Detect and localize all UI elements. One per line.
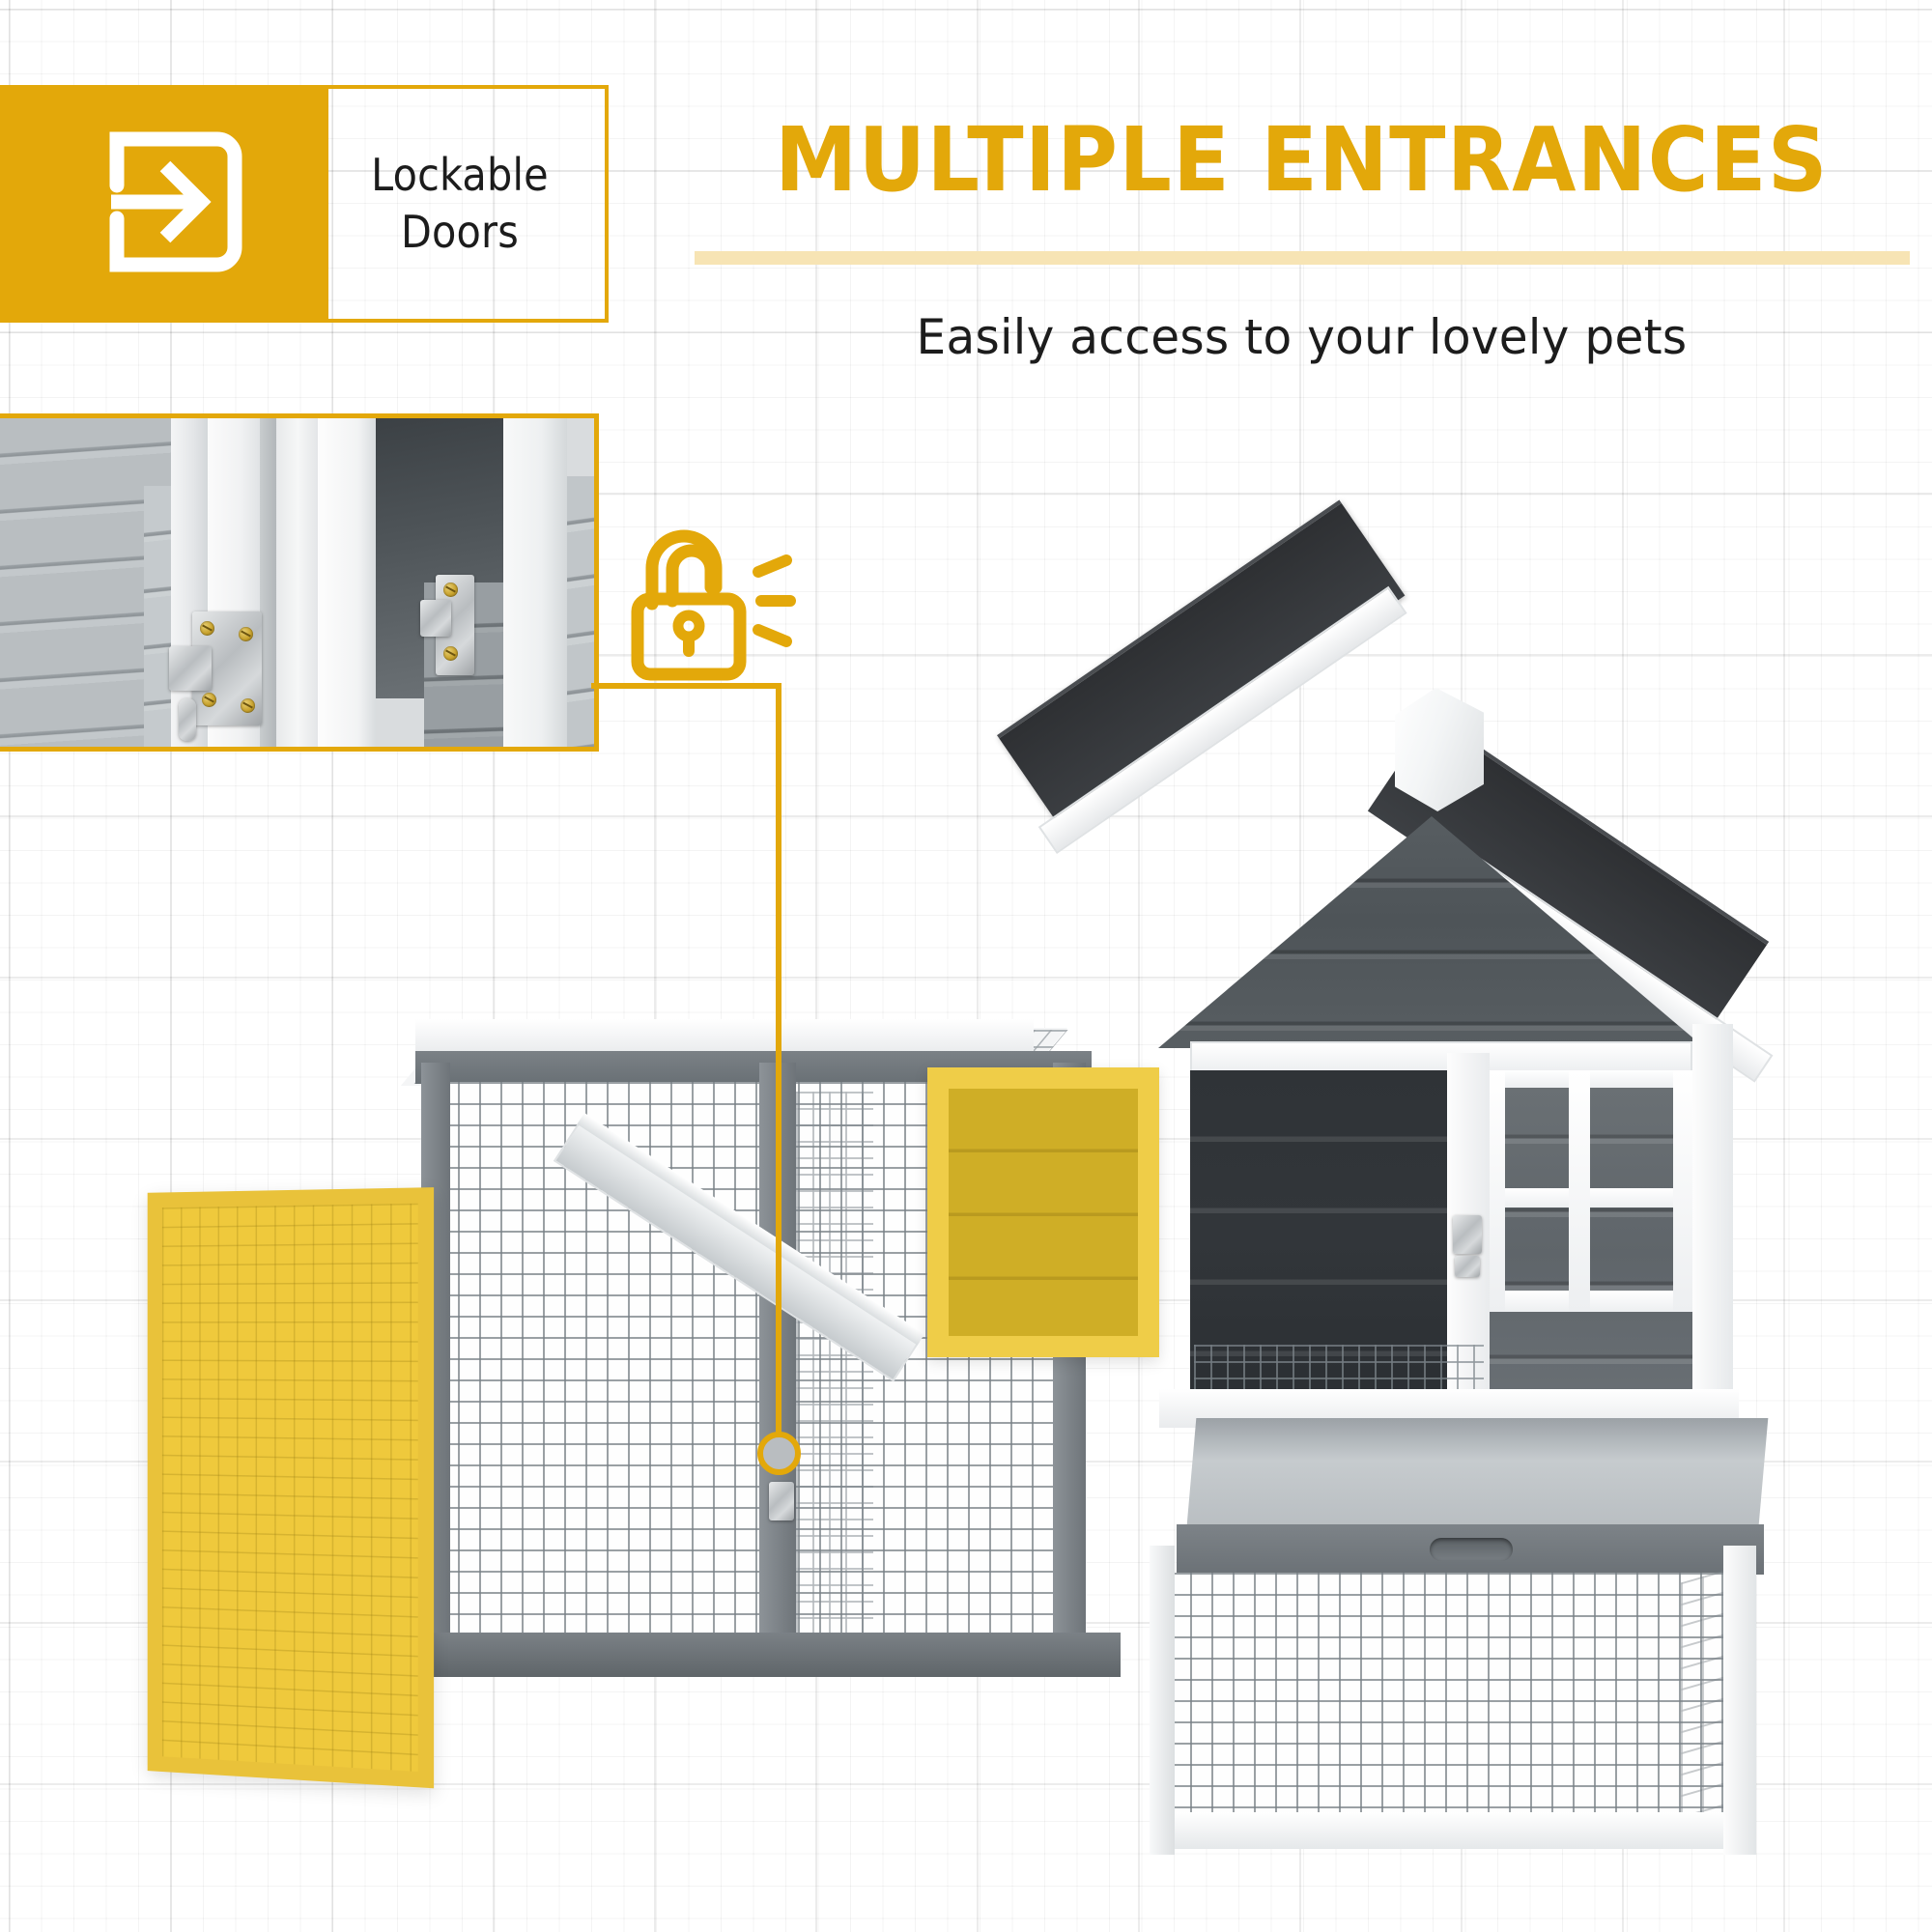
detail-door-stile-d [318,413,376,752]
detail-right-post [503,413,567,752]
detail-screw-5 [443,582,458,597]
door-latch-icon [1453,1215,1482,1254]
callout-leader-line [591,676,813,1478]
badge-label-line-1: Lockable [371,147,549,204]
detail-screw-3 [202,693,216,707]
run-base-rail [406,1633,1121,1677]
door-latch-keeper-icon [1455,1256,1480,1277]
badge-label: Lockable Doors [371,147,549,261]
badge-icon-cell [0,89,328,319]
lower-run-base-rail [1157,1812,1754,1849]
detail-screw-4 [241,698,255,713]
detail-screw-1 [200,621,214,636]
highlight-run-side-door-mesh [162,1204,418,1772]
detail-screw-2 [239,627,253,641]
lower-run-right-post [1723,1546,1756,1855]
detail-screw-6 [443,646,458,661]
page-subtitle: Easily access to your lovely pets [699,309,1903,365]
roof-left-slope [997,500,1405,831]
highlight-house-front-door-panel [949,1089,1138,1336]
hutch-right-post [1692,1024,1733,1449]
feature-badge: Lockable Doors [0,85,609,323]
window-frame-right [1673,1070,1692,1312]
unlock-padlock-icon [616,522,800,691]
door-enter-arrow-icon [72,110,256,298]
callout-endpoint-marker [757,1432,801,1475]
detail-latch-pin-left [179,698,196,741]
page-title: MULTIPLE ENTRANCES [724,116,1879,205]
heading-block: MULTIPLE ENTRANCES Easily access to your… [681,116,1922,365]
tray-handle [1430,1538,1513,1561]
run-door-latch-icon [769,1482,794,1520]
highlight-house-front-door[interactable] [927,1067,1159,1357]
header-beam [1190,1041,1692,1074]
heading-divider [695,251,1910,265]
badge-label-cell: Lockable Doors [328,89,605,319]
hutch-floor-mesh [1194,1345,1484,1393]
detail-latch-hook-left [169,646,212,691]
detail-hinge-knuckle-right [420,600,451,637]
detail-door-stile-c [276,413,320,752]
window-muntin-vertical [1569,1070,1590,1312]
highlight-run-side-door[interactable] [148,1187,434,1788]
hinge-detail-photo [0,413,599,752]
badge-label-line-2: Doors [371,204,549,261]
lower-run-left-post [1150,1546,1175,1855]
lower-run-mesh [1169,1573,1748,1824]
